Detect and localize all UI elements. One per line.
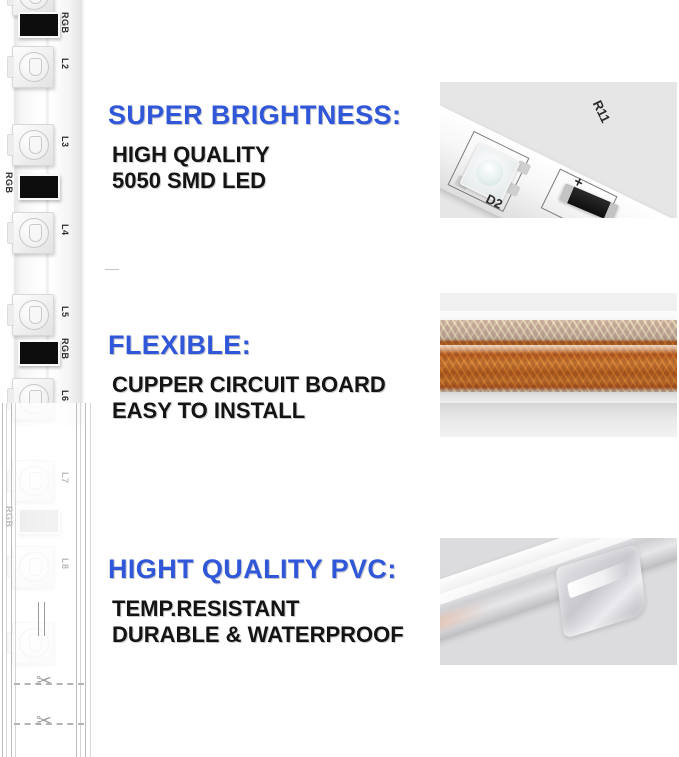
led-strip-pcb-photo: [440, 86, 677, 218]
sleeve-cut-lip: [567, 561, 628, 598]
feature-heading: FLEXIBLE:: [108, 330, 386, 361]
cut-line-marker: ✂: [14, 712, 84, 734]
silkscreen-label-rgb: RGB: [60, 338, 69, 360]
silkscreen-label-l2: L2: [60, 58, 69, 70]
lead-wires: [35, 602, 49, 636]
sleeve-ridge: [80, 403, 81, 757]
led-package-l7: [12, 460, 54, 502]
feature-block-flexible: FLEXIBLE: CUPPER CIRCUIT BOARD EASY TO I…: [108, 330, 386, 423]
feature-block-pvc-quality: HIGHT QUALITY PVC: TEMP.RESISTANT DURABL…: [108, 554, 404, 647]
copper-braid-weave: [440, 320, 677, 392]
led-package-l2: [12, 46, 54, 88]
led-solder-tab: [7, 632, 14, 654]
led-solder-tab: [7, 0, 14, 6]
feature-body: CUPPER CIRCUIT BOARD EASY TO INSTALL: [112, 372, 386, 423]
led-package-l8: [12, 546, 54, 588]
sleeve-ridge: [6, 403, 7, 757]
rgb-driver-block: [18, 340, 60, 366]
led-solder-tab: [7, 388, 14, 410]
copper-circuit-board-photo: [440, 293, 677, 437]
tube-bottom-shade: [440, 403, 677, 437]
led-package-l5: [12, 294, 54, 336]
led-solder-tab: [7, 556, 14, 578]
silkscreen-label-l8: L8: [60, 558, 69, 570]
silkscreen-label-l7: L7: [60, 472, 69, 484]
led-solder-tab: [7, 56, 14, 78]
sleeve-ridge: [2, 403, 3, 757]
sleeve-ridge: [85, 403, 86, 757]
scissors-icon: ✂: [36, 671, 52, 693]
rgb-driver-block: [18, 174, 60, 200]
silkscreen-label-l3: L3: [60, 136, 69, 148]
sleeve-ridge: [90, 403, 91, 757]
led-strip-illustration: RGB L2 L3 RGB L4 L5 RGB L6: [0, 0, 100, 757]
silkscreen-label-rgb: RGB: [4, 172, 13, 194]
feature-heading: SUPER BRIGHTNESS:: [108, 100, 401, 131]
pvc-sleeve-photo: [440, 538, 677, 665]
sleeve-warm-reflection: [440, 598, 494, 635]
feature-body: HIGH QUALITY 5050 SMD LED: [112, 142, 401, 193]
led-solder-tab: [7, 134, 14, 156]
led-solder-tab: [7, 470, 14, 492]
feature-heading: HIGHT QUALITY PVC:: [108, 554, 404, 585]
feature-block-super-brightness: SUPER BRIGHTNESS: HIGH QUALITY 5050 SMD …: [108, 100, 401, 193]
scissors-icon: ✂: [36, 711, 52, 733]
led-package-l6: [12, 378, 54, 420]
sleeve-ridge: [76, 403, 77, 757]
feature-body: TEMP.RESISTANT DURABLE & WATERPROOF: [112, 596, 404, 647]
smd-led-macro-photo: R11 + D2: [440, 82, 677, 218]
led-package-l4: [12, 212, 54, 254]
cut-line-marker: ✂: [14, 672, 84, 694]
silkscreen-label-rgb: RGB: [4, 506, 13, 528]
led-package-l3: [12, 124, 54, 166]
rgb-driver-block: [18, 508, 60, 534]
led-solder-tab: [7, 222, 14, 244]
led-solder-tab: [7, 304, 14, 326]
copper-specular-glare: [440, 345, 677, 354]
rgb-driver-block: [18, 12, 60, 38]
silkscreen-label-l6: L6: [60, 390, 69, 402]
silkscreen-label-rgb: RGB: [60, 12, 69, 34]
silkscreen-label-l5: L5: [60, 306, 69, 318]
product-infographic: RGB L2 L3 RGB L4 L5 RGB L6: [0, 0, 679, 757]
divider-hairline: [105, 269, 119, 270]
silkscreen-label-l4: L4: [60, 224, 69, 236]
silkscreen-r11: R11: [590, 98, 614, 125]
